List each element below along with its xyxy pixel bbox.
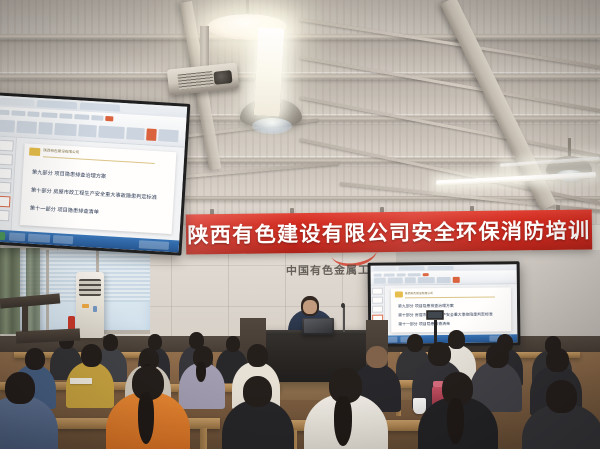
lcd-display-right[interactable]: 陕西有色建设有限公司 第九部分 项目隐患排查治理方案 第十部分 房屋市政工程生产… (368, 261, 521, 347)
slide-line-1: 第九部分 项目隐患排查治理方案 (32, 169, 107, 180)
banner-text: 陕西有色建设有限公司安全环保消防培训 (187, 215, 591, 250)
slide-line-right-2: 第十部分 房屋市政工程生产安全重大事故隐患判定标准 (398, 311, 493, 318)
air-conditioner-unit (76, 272, 104, 338)
recording-phone[interactable] (426, 310, 444, 320)
slide-line-3: 第十一部分 项目隐患排查清单 (30, 205, 99, 216)
slide-header-right: 陕西有色建设有限公司 (405, 291, 433, 295)
presentation-slide-right: 陕西有色建设有限公司 第九部分 项目隐患排查治理方案 第十部分 房屋市政工程生产… (391, 287, 511, 332)
curtain-left-2 (26, 248, 40, 334)
curtain-left (0, 248, 20, 334)
desk-leg-front-1 (200, 428, 207, 449)
slide-line-right-3: 第十一部分 项目隐患排查清单 (398, 321, 450, 328)
projector-screen-left[interactable]: 陕西有色建设有限公司 第九部分 项目隐患排查治理方案 第十部分 房屋市政工程生产… (0, 92, 190, 255)
microphone-stand (343, 306, 345, 332)
wall-logo-text: 中国有色金属工 (286, 262, 370, 279)
paper-sheet-left (70, 378, 92, 384)
presentation-slide: 陕西有色建设有限公司 第九部分 项目隐患排查治理方案 第十部分 房屋市政工程生产… (20, 143, 177, 234)
speaker-face (303, 300, 317, 314)
pendant-lamp-2-glow (252, 118, 292, 134)
speaker-laptop[interactable] (302, 318, 334, 335)
window-blind (0, 250, 150, 302)
photo-scene: 陕西有色建设有限公司安全环保消防培训 中国有色金属工 (0, 0, 600, 449)
microphone-head (341, 303, 345, 308)
training-banner: 陕西有色建设有限公司安全环保消防培训 (186, 210, 592, 255)
fluorescent-tube-vertical (254, 27, 285, 116)
slide-line-2: 第十部分 房屋市政工程生产安全重大事故隐患判定标准 (31, 187, 157, 201)
slide-line-right-1: 第九部分 项目隐患排查治理方案 (398, 303, 454, 310)
window-frame-vertical-1 (46, 250, 49, 334)
side-table-leg (22, 306, 28, 332)
slide-header: 陕西有色建设有限公司 (43, 148, 79, 155)
